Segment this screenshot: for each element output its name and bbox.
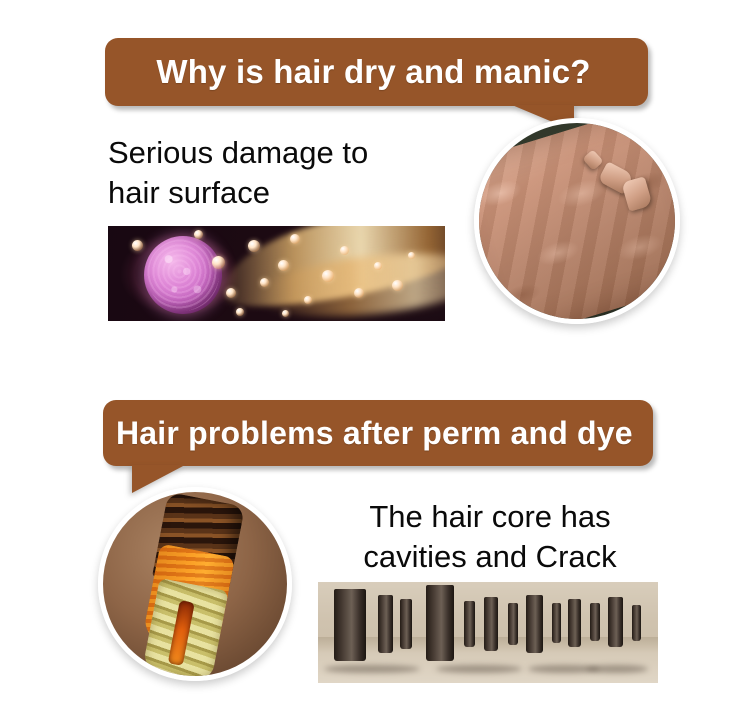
bubble-icon — [248, 240, 260, 252]
cuticle-fiber-body — [474, 118, 680, 324]
bubble-icon — [278, 260, 289, 271]
bubble-icon — [282, 310, 289, 317]
hair-shaft — [464, 601, 475, 647]
bubble-icon — [322, 270, 334, 282]
bubble-icon — [374, 262, 382, 270]
bubble-icon — [304, 296, 312, 304]
hair-shaft — [590, 603, 600, 641]
cuticle-scales — [474, 118, 680, 324]
hair-cross-section-photo — [98, 487, 292, 681]
hair-shaft — [378, 595, 393, 653]
hair-shaft — [608, 597, 623, 647]
banner-hair-problems: Hair problems after perm and dye — [103, 400, 653, 466]
hair-shaft — [632, 605, 641, 641]
shaft-shadow — [436, 665, 522, 673]
bubble-icon — [226, 288, 236, 298]
hair-shaft — [568, 599, 581, 647]
hair-shaft — [334, 589, 366, 661]
bubble-icon — [132, 240, 143, 251]
banner-hair-problems-label: Hair problems after perm and dye — [116, 415, 633, 452]
hair-shaft — [400, 599, 412, 649]
banner-why-hair-dry: Why is hair dry and manic? — [105, 38, 648, 106]
hair-shaft — [484, 597, 498, 651]
shaft-shadow — [324, 665, 420, 673]
bubble-icon — [354, 288, 364, 298]
bubble-icon — [290, 234, 300, 244]
bubble-icon — [408, 252, 415, 259]
banner-why-hair-dry-label: Why is hair dry and manic? — [156, 53, 590, 91]
hair-shaft — [426, 585, 454, 661]
cortex-sphere — [144, 236, 222, 314]
hair-fiber-photo — [108, 226, 445, 321]
hair-shaft — [552, 603, 561, 643]
bubble-icon — [260, 278, 269, 287]
bubble-icon — [236, 308, 244, 316]
bubble-icon — [340, 246, 349, 255]
bubble-icon — [212, 256, 225, 269]
hair-shaft — [526, 595, 543, 653]
hair-shafts-photo — [318, 582, 658, 683]
bubble-icon — [194, 230, 203, 239]
hair-shaft — [508, 603, 518, 645]
hair-shaft-cutaway — [129, 491, 253, 680]
caption-serious-damage: Serious damage to hair surface — [108, 133, 448, 214]
infographic-poster: Why is hair dry and manic? Serious damag… — [0, 0, 750, 719]
bubble-icon — [392, 280, 403, 291]
damaged-cuticle-photo — [474, 118, 680, 324]
caption-hair-core-cavities: The hair core has cavities and Crack — [330, 497, 650, 578]
shaft-shadow — [586, 665, 648, 673]
